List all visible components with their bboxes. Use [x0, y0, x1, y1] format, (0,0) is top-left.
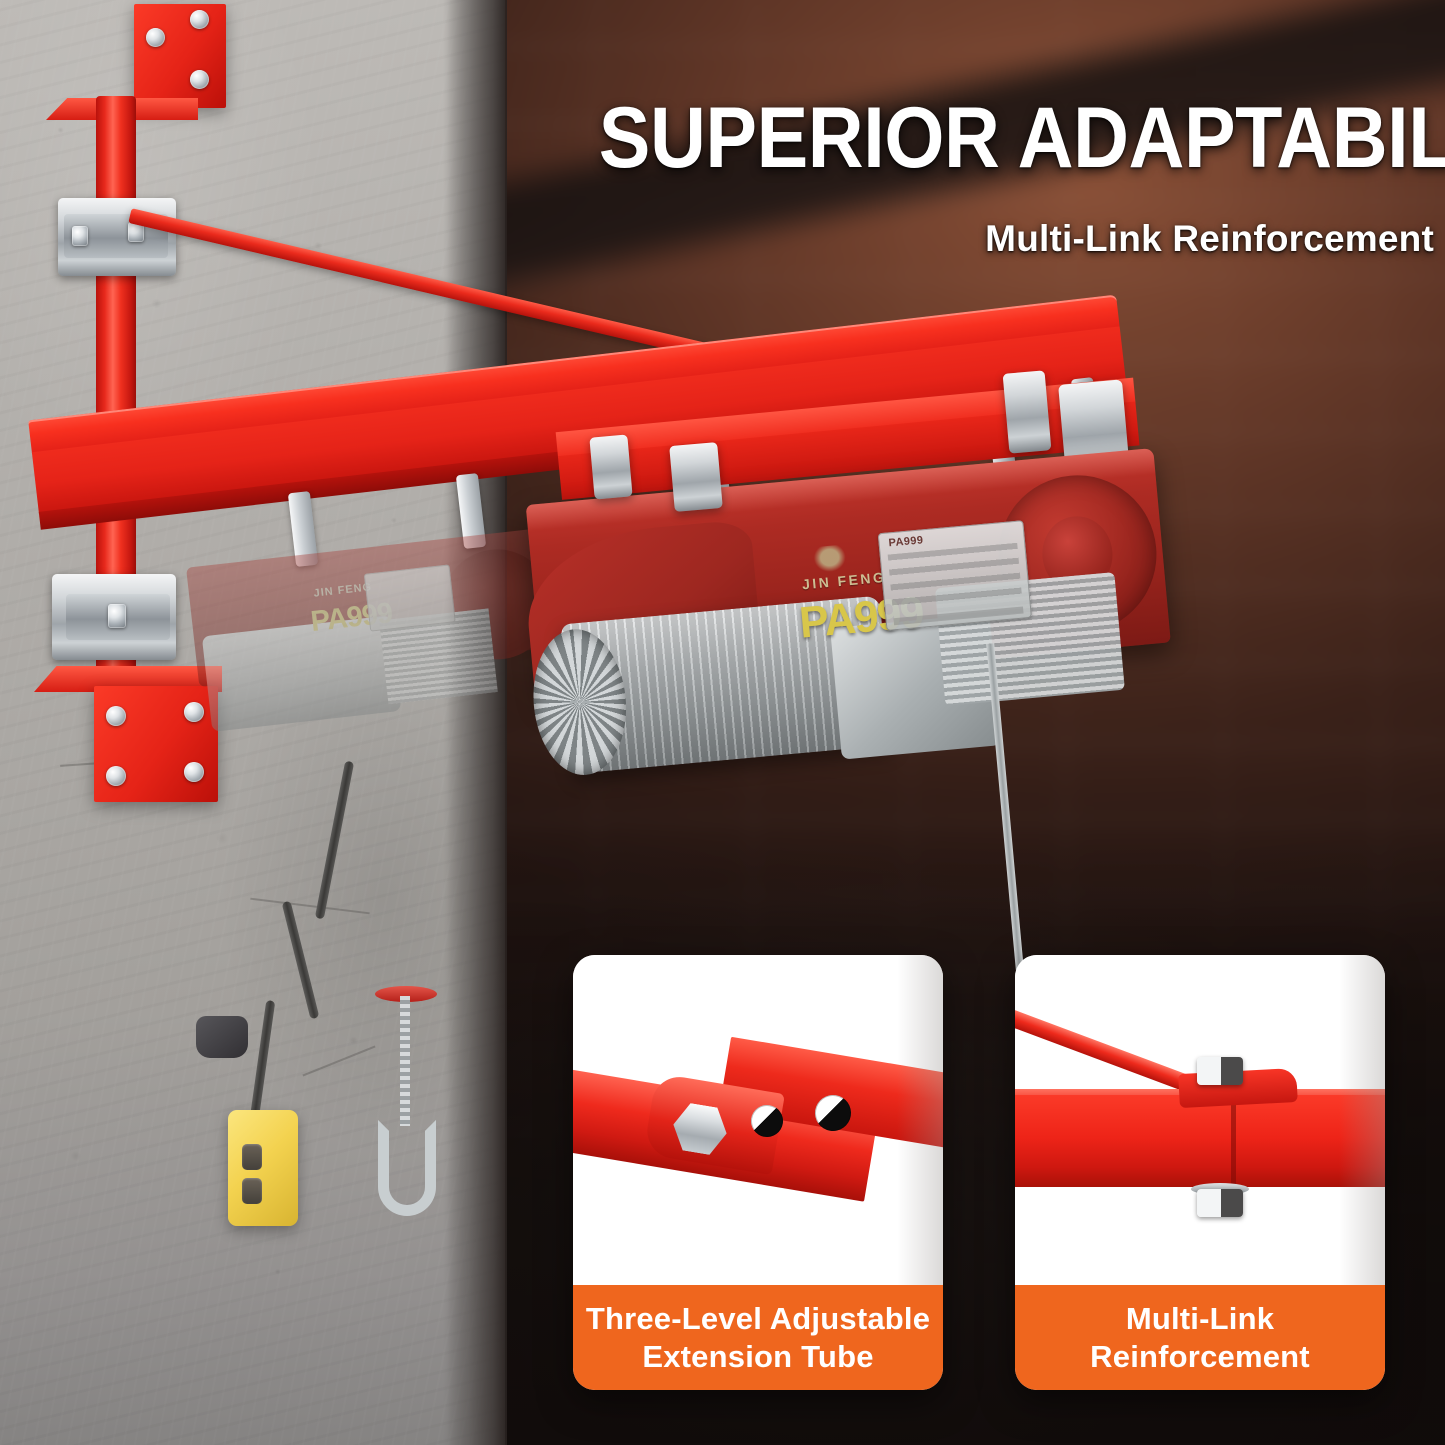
card-2-edge-fade: [1339, 955, 1385, 1285]
plate-bolt: [184, 762, 204, 782]
feature-card-2-caption: Multi-Link Reinforcement: [1015, 1285, 1385, 1390]
caption-line-1: Multi-Link: [1126, 1301, 1274, 1336]
spec-plate-title: PA999: [888, 534, 924, 549]
feature-card-multi-link[interactable]: Multi-Link Reinforcement: [1015, 955, 1385, 1390]
plate-bolt: [190, 10, 209, 29]
caption-line-1: Three-Level Adjustable: [586, 1301, 930, 1336]
plate-bolt: [106, 706, 126, 726]
clamp-bolt: [108, 604, 126, 628]
upper-locking-nut: [1197, 1057, 1243, 1085]
spec-plate-rows: [888, 543, 1023, 613]
pendant-controller: [228, 1110, 298, 1226]
feature-card-2-caption-text: Multi-Link Reinforcement: [1090, 1300, 1310, 1376]
rail-end-clamp: [1003, 370, 1052, 453]
plate-bolt: [190, 70, 209, 89]
feature-card-extension-tube[interactable]: Three-Level Adjustable Extension Tube: [573, 955, 943, 1390]
hoist-brand-logo-mark: [813, 544, 847, 573]
upper-wall-mounting-plate: [134, 4, 226, 108]
hook-wire-rope: [400, 996, 410, 1126]
caption-line-2: Reinforcement: [1090, 1339, 1310, 1374]
feature-card-1-caption: Three-Level Adjustable Extension Tube: [573, 1285, 943, 1390]
page-title: SUPERIOR ADAPTABILITY: [599, 96, 1434, 180]
power-plug: [196, 1016, 248, 1058]
plate-bolt: [106, 766, 126, 786]
feature-card-1-caption-text: Three-Level Adjustable Extension Tube: [586, 1300, 930, 1376]
pendant-up-button[interactable]: [242, 1144, 262, 1170]
feature-card-2-photo: [1015, 955, 1385, 1285]
clamp-bolt: [72, 226, 88, 246]
product-marketing-image: JIN FENG PA999 JIN FENG PA999 PA999: [0, 0, 1445, 1445]
secondary-hoist-ghost: JIN FENG PA999: [186, 525, 586, 766]
page-subtitle: Multi-Link Reinforcement: [506, 218, 1434, 260]
secondary-hoist-spec-plate: [364, 564, 456, 631]
lifting-hook: [378, 1120, 436, 1216]
hoist-mount-clamp: [589, 434, 632, 499]
caption-line-2: Extension Tube: [642, 1339, 873, 1374]
card-1-edge-fade: [897, 955, 943, 1285]
feature-card-1-photo: [573, 955, 943, 1285]
lower-locking-nut: [1197, 1189, 1243, 1217]
hoist-spec-plate: PA999: [878, 520, 1032, 631]
electric-hoist-unit: JIN FENG PA999 PA999: [526, 448, 1181, 804]
plate-bolt: [146, 28, 165, 47]
main-beam: [1015, 1095, 1385, 1187]
hoist-mount-clamp: [669, 442, 723, 512]
pendant-down-button[interactable]: [242, 1178, 262, 1204]
